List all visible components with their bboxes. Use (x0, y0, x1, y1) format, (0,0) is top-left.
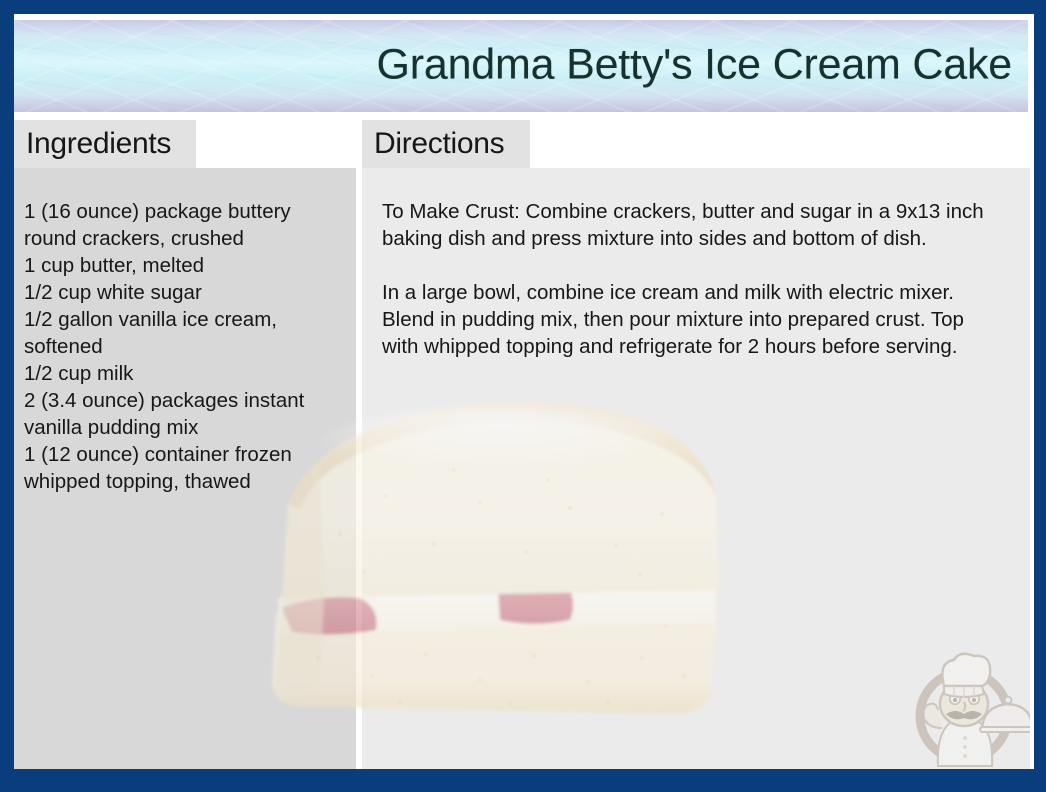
recipe-page: Grandma Betty's Ice Cream Cake Ingredien… (14, 14, 1034, 769)
tab-directions-label: Directions (374, 127, 504, 161)
recipe-card: Grandma Betty's Ice Cream Cake Ingredien… (0, 0, 1046, 792)
ingredient-item: 1/2 gallon vanilla ice cream, softened (24, 306, 340, 360)
ingredient-item: 1/2 cup white sugar (24, 279, 340, 306)
directions-panel: To Make Crust: Combine crackers, butter … (362, 168, 1030, 769)
ingredient-item: 1 (16 ounce) package buttery round crack… (24, 198, 340, 252)
page-title: Grandma Betty's Ice Cream Cake (377, 41, 1013, 90)
title-banner: Grandma Betty's Ice Cream Cake (14, 20, 1028, 112)
direction-paragraph: In a large bowl, combine ice cream and m… (382, 279, 994, 360)
tab-directions[interactable]: Directions (362, 120, 530, 168)
tab-ingredients-label: Ingredients (26, 127, 171, 161)
ingredient-item: 1 cup butter, melted (24, 252, 340, 279)
ingredient-item: 1 (12 ounce) container frozen whipped to… (24, 441, 340, 495)
ingredients-list: 1 (16 ounce) package buttery round crack… (24, 198, 340, 495)
tab-ingredients[interactable]: Ingredients (14, 120, 196, 168)
ingredients-content: 1 (16 ounce) package buttery round crack… (14, 168, 356, 495)
ingredient-item: 2 (3.4 ounce) packages instant vanilla p… (24, 387, 340, 441)
direction-paragraph: To Make Crust: Combine crackers, butter … (382, 198, 994, 252)
directions-text: To Make Crust: Combine crackers, butter … (372, 198, 1014, 360)
ingredient-item: 1/2 cup milk (24, 360, 340, 387)
ingredients-panel: 1 (16 ounce) package buttery round crack… (14, 168, 356, 769)
directions-content: To Make Crust: Combine crackers, butter … (362, 168, 1030, 360)
